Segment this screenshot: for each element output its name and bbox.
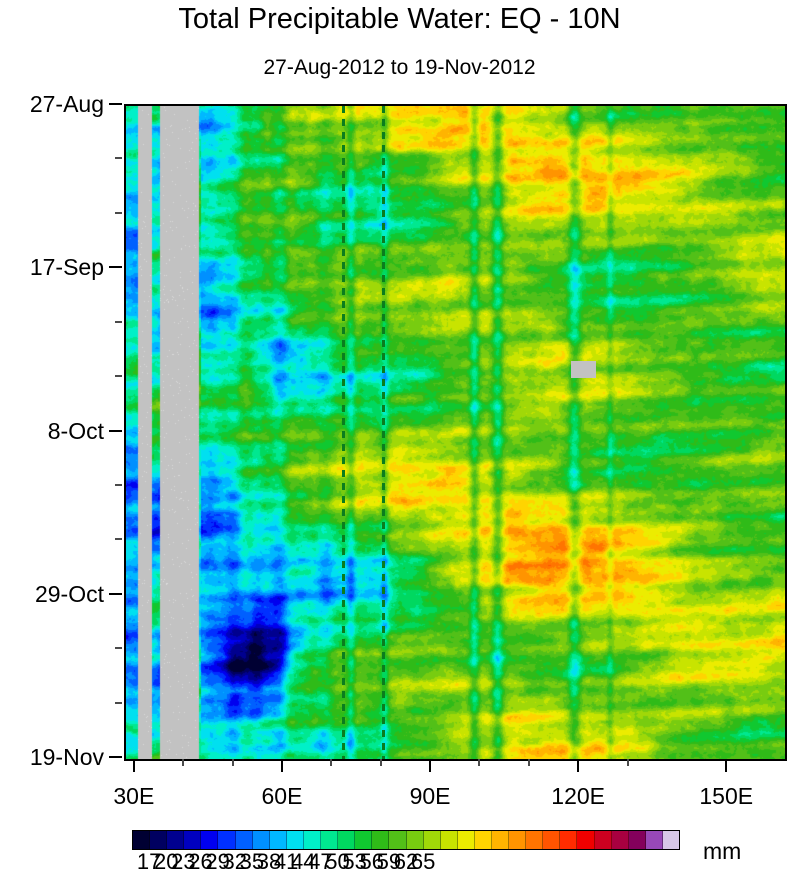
y-tick-major: [109, 266, 122, 268]
x-tick-minor: [330, 759, 332, 766]
y-axis-label: 17-Sep: [0, 254, 104, 280]
figure-canvas: Total Precipitable Water: EQ - 10N 27-Au…: [0, 0, 799, 872]
colorbar-cell: [543, 831, 560, 849]
colorbar-cell: [595, 831, 612, 849]
colorbar-cell: [458, 831, 475, 849]
colorbar-cell: [407, 831, 424, 849]
colorbar-tick-label: 65: [411, 850, 435, 874]
colorbar-cell: [304, 831, 321, 849]
colorbar-cell: [150, 831, 167, 849]
x-tick-major: [577, 759, 579, 772]
x-axis-label: 30E: [113, 783, 154, 809]
x-tick-minor: [380, 759, 382, 766]
colorbar-tick-labels: 1720232629323538414447505356596265: [0, 850, 799, 876]
y-tick-minor: [115, 484, 122, 486]
missing-data-patch: [571, 361, 596, 378]
y-tick-minor: [115, 538, 122, 540]
x-tick-major: [133, 759, 135, 772]
colorbar-cell: [424, 831, 441, 849]
colorbar-cell: [133, 831, 150, 849]
y-tick-minor: [115, 375, 122, 377]
colorbar-cell: [441, 831, 458, 849]
colorbar-cell: [270, 831, 287, 849]
y-axis-label: 29-Oct: [0, 581, 104, 607]
y-tick-major: [109, 756, 122, 758]
x-tick-minor: [528, 759, 530, 766]
colorbar-cell: [475, 831, 492, 849]
colorbar-cell: [372, 831, 389, 849]
y-tick-minor: [115, 647, 122, 649]
y-axis-label: 8-Oct: [0, 418, 104, 444]
x-tick-major: [281, 759, 283, 772]
colorbar-cell: [184, 831, 201, 849]
date-range-subtitle: 27-Aug-2012 to 19-Nov-2012: [0, 56, 799, 80]
colorbar-cell: [577, 831, 594, 849]
x-tick-major: [725, 759, 727, 772]
x-tick-major: [429, 759, 431, 772]
y-tick-minor: [115, 212, 122, 214]
precipitable-water-field: [126, 106, 785, 759]
colorbar-cell: [355, 831, 372, 849]
x-axis-label: 150E: [699, 783, 753, 809]
x-axis-label: 120E: [551, 783, 605, 809]
colorbar-cell: [492, 831, 509, 849]
x-tick-minor: [478, 759, 480, 766]
meridian-dashed-line: [382, 106, 385, 759]
y-axis-label: 19-Nov: [0, 744, 104, 770]
colorbar-cell: [509, 831, 526, 849]
hovmoller-plot-area: [124, 104, 787, 761]
x-axis-label: 90E: [410, 783, 451, 809]
colorbar-cell: [663, 831, 679, 849]
y-tick-minor: [115, 321, 122, 323]
y-tick-major: [109, 593, 122, 595]
y-axis-label: 27-Aug: [0, 91, 104, 117]
colorbar: [132, 830, 680, 850]
x-axis-label: 60E: [261, 783, 302, 809]
meridian-dashed-line: [342, 106, 345, 759]
colorbar-cell: [236, 831, 253, 849]
y-tick-major: [109, 430, 122, 432]
colorbar-units-label: mm: [703, 838, 741, 864]
colorbar-cell: [321, 831, 338, 849]
colorbar-cell: [338, 831, 355, 849]
colorbar-cell: [253, 831, 270, 849]
x-tick-minor: [182, 759, 184, 766]
colorbar-cell: [167, 831, 184, 849]
colorbar-cell: [612, 831, 629, 849]
x-tick-minor: [627, 759, 629, 766]
colorbar-cell: [389, 831, 406, 849]
colorbar-cell: [526, 831, 543, 849]
colorbar-cell: [629, 831, 646, 849]
y-tick-major: [109, 103, 122, 105]
x-tick-minor: [232, 759, 234, 766]
y-tick-minor: [115, 702, 122, 704]
colorbar-cell: [201, 831, 218, 849]
colorbar-cell: [287, 831, 304, 849]
page-title: Total Precipitable Water: EQ - 10N: [0, 2, 799, 36]
colorbar-cell: [646, 831, 663, 849]
colorbar-cell: [218, 831, 235, 849]
colorbar-cell: [560, 831, 577, 849]
y-tick-minor: [115, 157, 122, 159]
